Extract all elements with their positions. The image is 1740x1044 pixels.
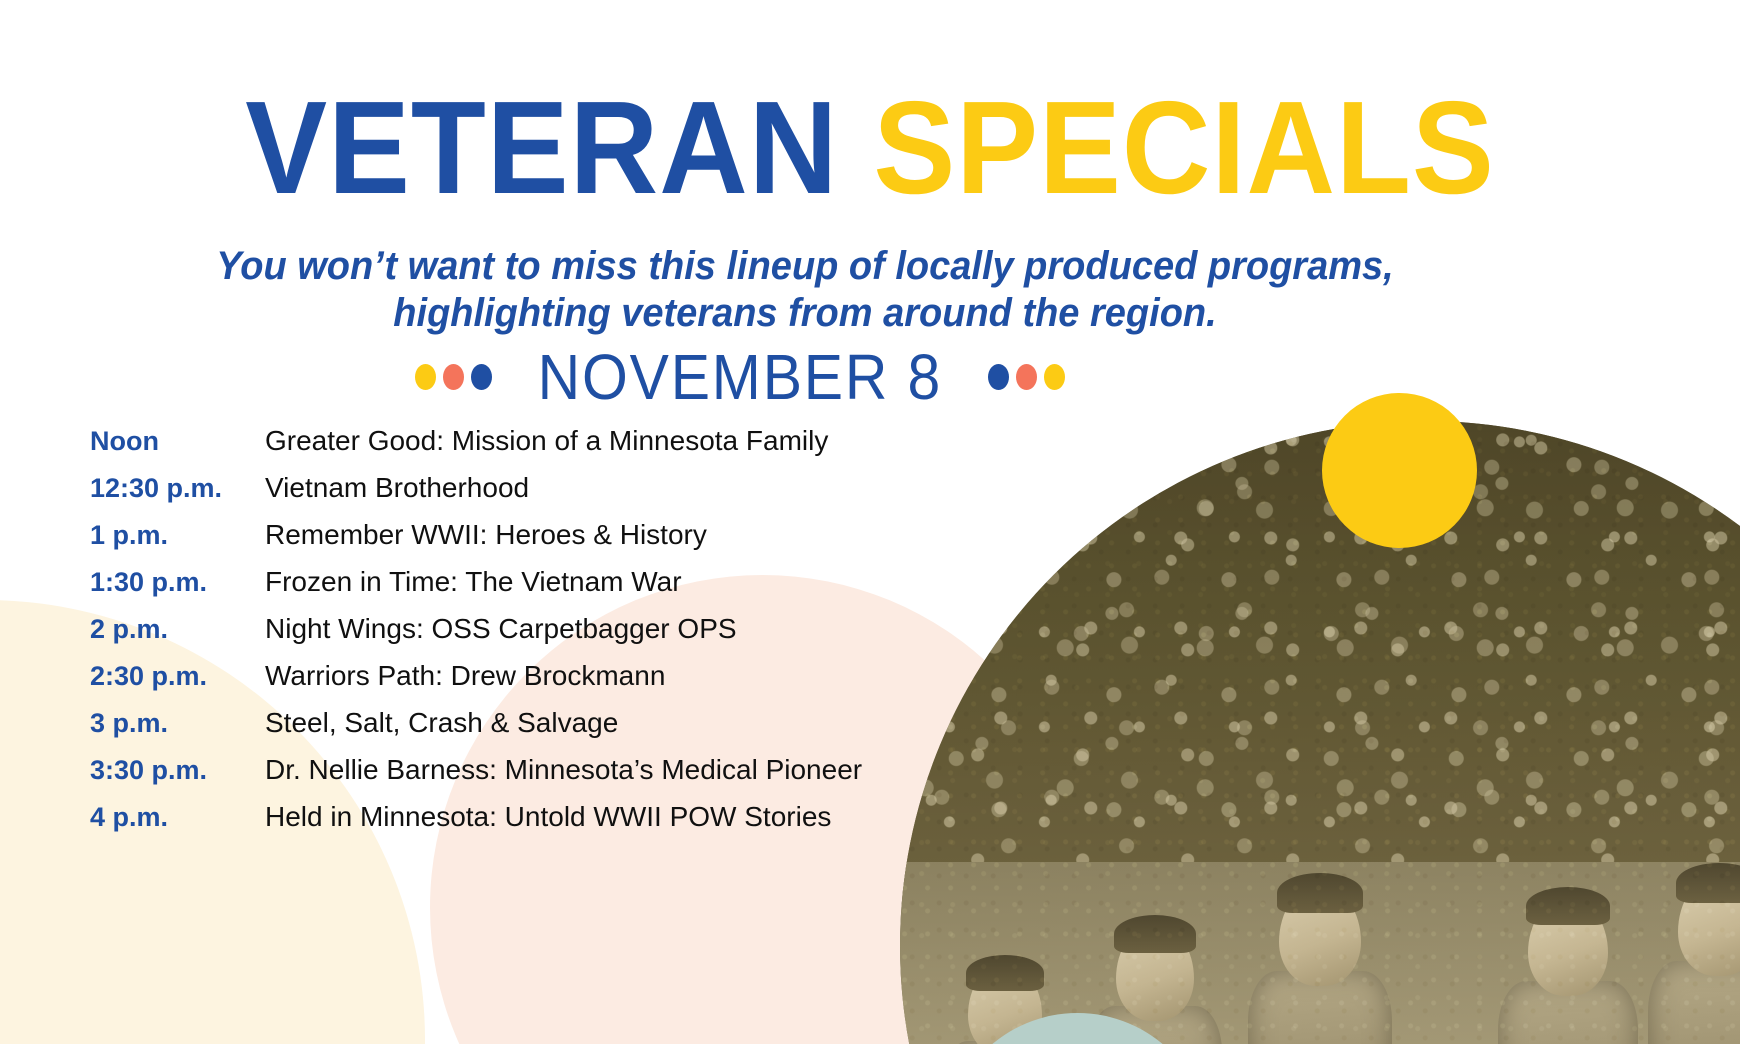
schedule-program-title: Dr. Nellie Barness: Minnesota’s Medical … (265, 754, 862, 786)
schedule-program-title: Steel, Salt, Crash & Salvage (265, 707, 618, 739)
schedule-time: 2 p.m. (90, 614, 265, 645)
schedule-time: 3:30 p.m. (90, 755, 265, 786)
yellow-circle-decoration (1322, 393, 1477, 548)
schedule-list: Noon Greater Good: Mission of a Minnesot… (90, 425, 862, 848)
list-item: 2:30 p.m. Warriors Path: Drew Brockmann (90, 660, 862, 707)
list-item: 3:30 p.m. Dr. Nellie Barness: Minnesota’… (90, 754, 862, 801)
dot-blue-icon (988, 364, 1009, 390)
title-word-specials: SPECIALS (873, 74, 1494, 221)
photo-figure-man-4 (1495, 806, 1640, 1044)
schedule-time: Noon (90, 426, 265, 457)
list-item: Noon Greater Good: Mission of a Minnesot… (90, 425, 862, 472)
list-item: 4 p.m. Held in Minnesota: Untold WWII PO… (90, 801, 862, 848)
event-date: NOVEMBER 8 (538, 340, 942, 414)
photo-figure-man-5 (1645, 781, 1740, 1044)
schedule-program-title: Frozen in Time: The Vietnam War (265, 566, 682, 598)
schedule-time: 12:30 p.m. (90, 473, 265, 504)
list-item: 3 p.m. Steel, Salt, Crash & Salvage (90, 707, 862, 754)
photo-figure-man-2 (1085, 831, 1225, 1044)
list-item: 2 p.m. Night Wings: OSS Carpetbagger OPS (90, 613, 862, 660)
photo-figure-man-3 (1245, 791, 1395, 1044)
schedule-program-title: Night Wings: OSS Carpetbagger OPS (265, 613, 737, 645)
dot-coral-icon (1016, 364, 1037, 390)
schedule-time: 1:30 p.m. (90, 567, 265, 598)
dots-right-group (988, 364, 1065, 390)
dot-coral-icon (443, 364, 464, 390)
page-title: VETERAN SPECIALS (61, 82, 1679, 214)
schedule-program-title: Vietnam Brotherhood (265, 472, 529, 504)
list-item: 1 p.m. Remember WWII: Heroes & History (90, 519, 862, 566)
schedule-program-title: Remember WWII: Heroes & History (265, 519, 707, 551)
dot-blue-icon (471, 364, 492, 390)
date-row: NOVEMBER 8 (170, 340, 1310, 414)
subtitle-line-1: You won’t want to miss this lineup of lo… (202, 243, 1409, 290)
list-item: 1:30 p.m. Frozen in Time: The Vietnam Wa… (90, 566, 862, 613)
veteran-specials-poster: VETERAN SPECIALS You won’t want to miss … (0, 0, 1740, 1044)
list-item: 12:30 p.m. Vietnam Brotherhood (90, 472, 862, 519)
dots-left-group (415, 364, 492, 390)
subtitle: You won’t want to miss this lineup of lo… (202, 243, 1409, 337)
schedule-time: 2:30 p.m. (90, 661, 265, 692)
title-word-veteran: VETERAN (245, 74, 838, 221)
dot-yellow-icon (1044, 364, 1065, 390)
schedule-time: 3 p.m. (90, 708, 265, 739)
schedule-program-title: Greater Good: Mission of a Minnesota Fam… (265, 425, 828, 457)
photo-image (900, 421, 1740, 1044)
schedule-time: 4 p.m. (90, 802, 265, 833)
schedule-program-title: Held in Minnesota: Untold WWII POW Stori… (265, 801, 831, 833)
schedule-program-title: Warriors Path: Drew Brockmann (265, 660, 665, 692)
dot-yellow-icon (415, 364, 436, 390)
veterans-group-photo (900, 421, 1740, 1044)
schedule-time: 1 p.m. (90, 520, 265, 551)
subtitle-line-2: highlighting veterans from around the re… (202, 290, 1409, 337)
